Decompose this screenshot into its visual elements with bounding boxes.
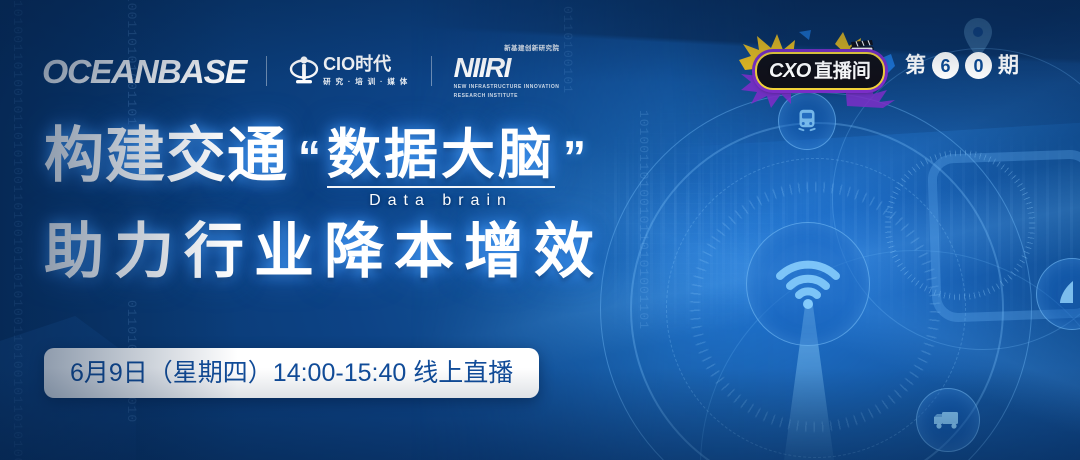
cio-logo: CIO时代 研 究 · 培 训 · 媒 体: [289, 55, 409, 88]
cxo-live-badge: CXO 直播间: [745, 38, 895, 100]
cxo-badge-cn: 直播间: [814, 62, 871, 81]
schedule-text: 6月9日（星期四）14:00-15:40 线上直播: [70, 361, 513, 386]
title-line-1: 构建交通 “ 数据大脑 Data brain ”: [44, 126, 604, 210]
truck-icon: [916, 388, 980, 452]
niiri-wordmark: NIIRI: [454, 54, 560, 82]
title-highlight-group: 数据大脑 Data brain: [325, 126, 557, 210]
episode-number: 第 6 0 期: [905, 52, 1019, 79]
schedule-pill: 6月9日（星期四）14:00-15:40 线上直播: [44, 348, 539, 398]
episode-digit-1: 6: [932, 52, 959, 79]
logo-divider-2: [431, 56, 432, 86]
niiri-subtitle-line2: RESEARCH INSTITUTE: [454, 93, 560, 100]
cio-text-block: CIO时代 研 究 · 培 训 · 媒 体: [323, 55, 409, 88]
logo-bar: OCEANBASE CIO时代 研 究 · 培 训 · 媒 体 新基建创新研究院…: [44, 48, 559, 94]
episode-prefix: 第: [905, 55, 926, 76]
cio-logo-title: CIO时代: [323, 55, 409, 74]
cxo-badge-en: CXO: [769, 61, 811, 81]
promo-banner: 1010011010010110101001101001011010100110…: [0, 0, 1080, 460]
niiri-subtitle-line1: NEW INFRASTRUCTURE INNOVATION: [454, 84, 560, 91]
title-line-2: 助力行业降本增效: [44, 222, 604, 282]
cio-person-mark-icon: [289, 55, 319, 87]
wifi-icon: [746, 222, 870, 346]
binary-column-4: 1010011010010110101001101: [636, 110, 651, 440]
title-highlight-underline: [327, 186, 555, 188]
episode-digit-2: 0: [965, 52, 992, 79]
niiri-logo: 新基建创新研究院 NIIRI NEW INFRASTRUCTURE INNOVA…: [454, 42, 560, 100]
oceanbase-logo: OCEANBASE: [42, 55, 246, 88]
episode-suffix: 期: [998, 55, 1019, 76]
niiri-chinese-name: 新基建创新研究院: [454, 42, 560, 52]
cio-logo-subtitle: 研 究 · 培 训 · 媒 体: [323, 76, 409, 87]
title-highlight-text: 数据大脑: [327, 126, 555, 184]
binary-column-1: 1010011010010110101001101001011010100110…: [10, 0, 25, 460]
title-block: 构建交通 “ 数据大脑 Data brain ” 助力行业降本增效: [44, 126, 604, 282]
quote-close-mark: ”: [557, 126, 586, 180]
title-main-text: 构建交通: [44, 126, 288, 186]
title-subtitle-en: Data brain: [369, 192, 513, 210]
quote-open-mark: “: [288, 126, 325, 180]
cxo-badge-pill: CXO 直播间: [755, 52, 885, 90]
binary-column-5: 0110100101: [560, 6, 575, 126]
logo-divider-1: [266, 56, 267, 86]
